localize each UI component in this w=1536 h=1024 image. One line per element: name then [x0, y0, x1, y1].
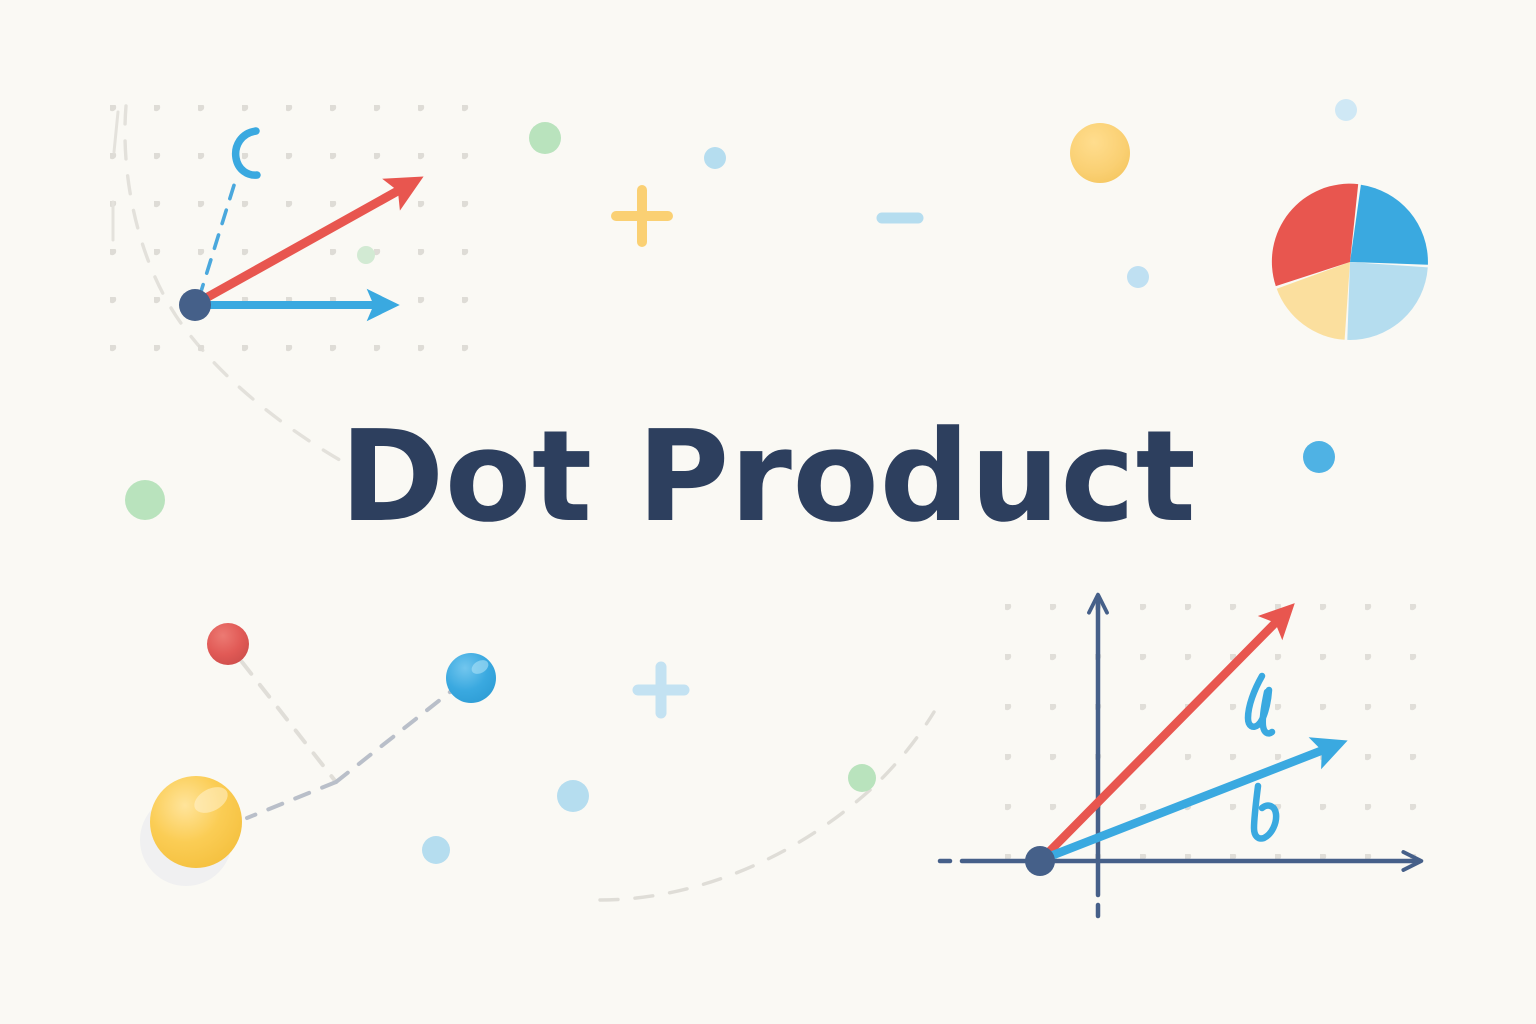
dot-grid-top-left: [104, 98, 476, 356]
pie-chart-decoration: [1272, 184, 1428, 340]
dot-lightblue-top: [704, 147, 726, 169]
origin-point: [1025, 846, 1055, 876]
blue-node: [446, 653, 496, 703]
dot-yellow-large: [1070, 123, 1130, 183]
light-blue-node: [422, 836, 450, 864]
dot-green-small-topleft: [357, 246, 375, 264]
dot-lightblue-mid-right: [1127, 266, 1149, 288]
red-node: [207, 623, 249, 665]
dot-green-bottom: [848, 764, 876, 792]
dot-blue-right: [1303, 441, 1335, 473]
vector-angle-diagram: [104, 98, 476, 356]
vector-axes-diagram: [940, 596, 1429, 916]
dot-green-left: [125, 480, 165, 520]
illustration-canvas: Dot Product: [0, 0, 1536, 1024]
yellow-node: [150, 776, 242, 868]
dot-grid-bottom-right: [999, 598, 1429, 888]
decorative-scene: [0, 0, 1536, 1024]
dot-lightblue-upper-right: [1335, 99, 1357, 121]
origin-point: [179, 289, 211, 321]
dot-green-top: [529, 122, 561, 154]
dot-lightblue-bottom-mid: [557, 780, 589, 812]
